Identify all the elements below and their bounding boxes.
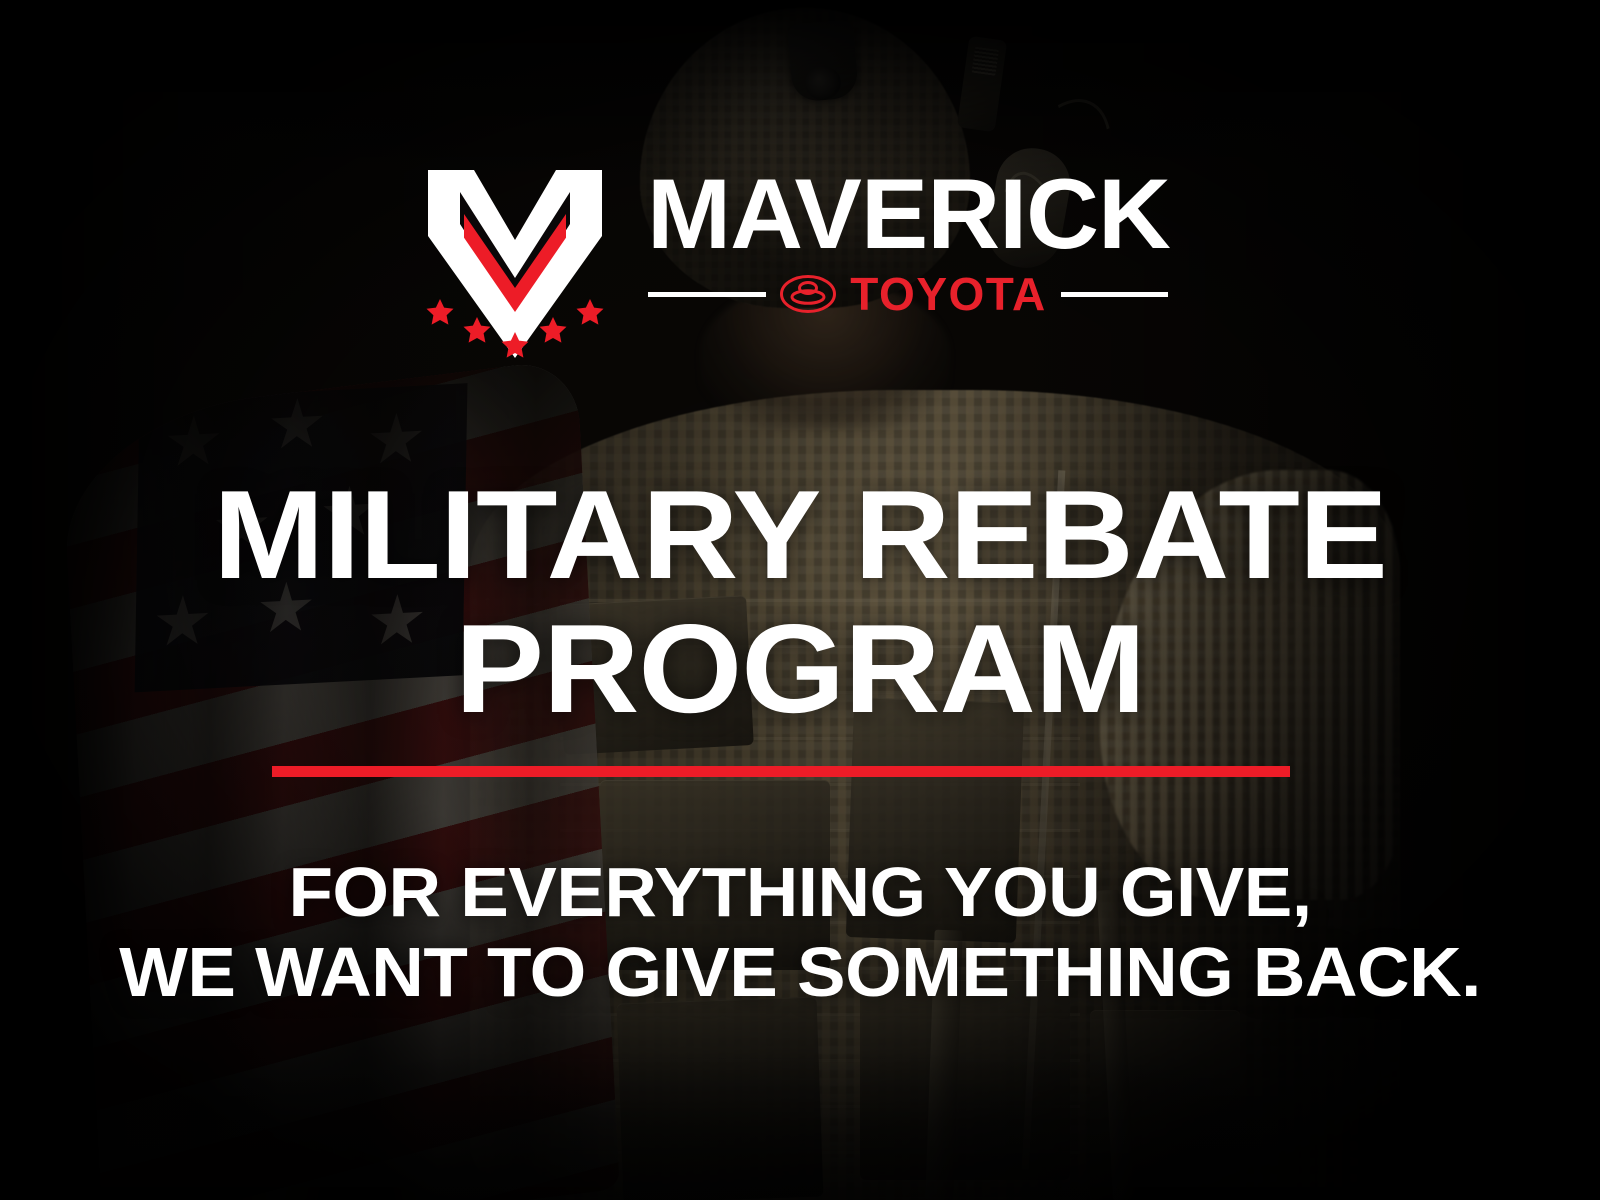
tagline-line-1: FOR EVERYTHING YOU GIVE, xyxy=(0,852,1600,932)
toyota-oval-logo-icon xyxy=(780,275,836,313)
headline-line-1: MILITARY REBATE xyxy=(0,468,1600,602)
banner-content: MAVERICK TOYOTA MILITARY REBATE PROGRAM xyxy=(0,0,1600,1200)
military-chevron-rank-emblem-icon xyxy=(420,160,610,360)
toyota-sub-lockup: TOYOTA xyxy=(636,271,1181,317)
tagline: FOR EVERYTHING YOU GIVE, WE WANT TO GIVE… xyxy=(0,852,1600,1012)
lockup-rule-left xyxy=(648,292,766,297)
brand-wordmark: MAVERICK TOYOTA xyxy=(636,160,1181,317)
lockup-rule-right xyxy=(1061,292,1168,297)
brand-name: MAVERICK xyxy=(630,168,1186,259)
promo-banner: MAVERICK TOYOTA MILITARY REBATE PROGRAM xyxy=(0,0,1600,1200)
red-divider-rule xyxy=(272,766,1290,777)
brand-logo-lockup: MAVERICK TOYOTA xyxy=(0,160,1600,360)
tagline-line-2: WE WANT TO GIVE SOMETHING BACK. xyxy=(0,932,1600,1012)
oem-name: TOYOTA xyxy=(850,271,1046,317)
headline-line-2: PROGRAM xyxy=(0,602,1600,736)
page-title: MILITARY REBATE PROGRAM xyxy=(0,468,1600,736)
